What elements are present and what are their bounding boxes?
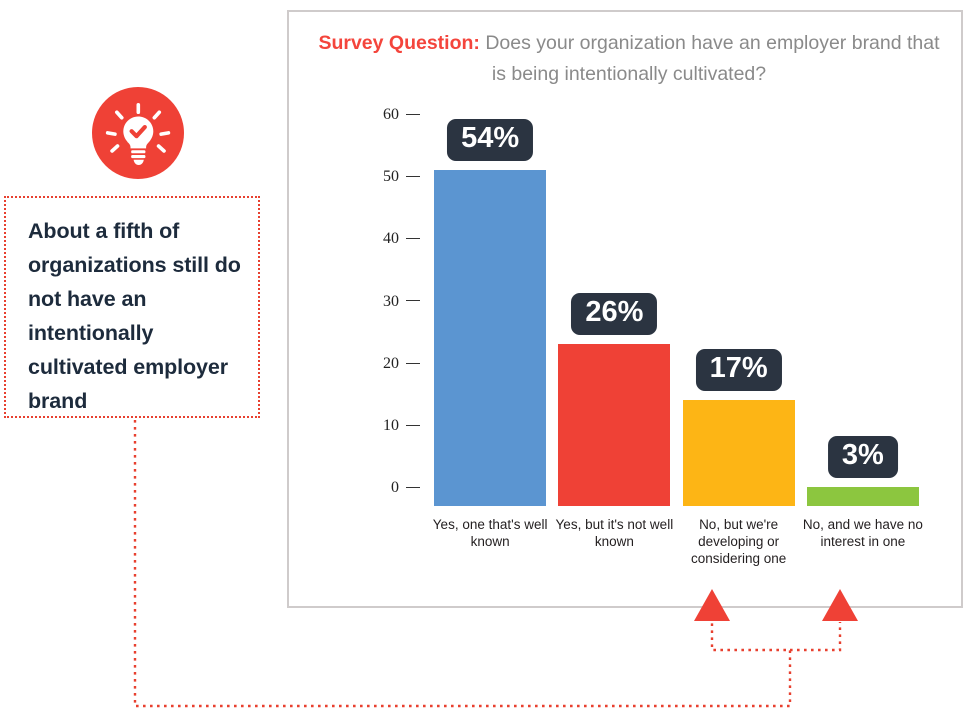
bar-1[interactable] bbox=[434, 170, 546, 506]
y-axis-tick-label: 60 bbox=[383, 106, 399, 123]
y-axis-tick-40: 40 bbox=[383, 230, 428, 248]
y-axis-tick-mark bbox=[406, 238, 420, 239]
x-axis-label-1: Yes, one that's well known bbox=[422, 516, 558, 550]
y-axis-tick-50: 50 bbox=[383, 168, 428, 186]
y-axis-tick-label: 50 bbox=[383, 168, 399, 185]
chart-title: Survey Question: Does your organization … bbox=[315, 28, 943, 90]
bar-value-label-2: 26% bbox=[571, 293, 657, 335]
bar-value-label-1: 54% bbox=[447, 119, 533, 161]
lightbulb-check-icon bbox=[92, 87, 184, 179]
y-axis-tick-label: 0 bbox=[391, 479, 399, 496]
y-axis-tick-label: 40 bbox=[383, 230, 399, 247]
bar-4[interactable] bbox=[807, 487, 919, 506]
bar-value-label-4: 3% bbox=[828, 436, 898, 478]
bar-3[interactable] bbox=[683, 400, 795, 506]
y-axis-tick-label: 30 bbox=[383, 293, 399, 310]
y-axis-tick-10: 10 bbox=[383, 417, 428, 435]
y-axis-tick-mark bbox=[406, 176, 420, 177]
y-axis-tick-mark bbox=[406, 487, 420, 488]
survey-question-label: Survey Question: bbox=[318, 32, 479, 54]
y-axis-tick-mark bbox=[406, 425, 420, 426]
chart-panel: Survey Question: Does your organization … bbox=[287, 10, 963, 608]
y-axis-tick-mark bbox=[406, 300, 420, 301]
plot-area: 0102030405060 54%Yes, one that's well kn… bbox=[428, 102, 925, 506]
y-axis-tick-label: 20 bbox=[383, 355, 399, 372]
callout-text: About a fifth of organizations still do … bbox=[28, 214, 256, 418]
x-axis-label-4: No, and we have no interest in one bbox=[795, 516, 931, 550]
bar-2[interactable] bbox=[558, 344, 670, 506]
y-axis-tick-label: 10 bbox=[383, 417, 399, 434]
x-axis-label-3: No, but we're developing or considering … bbox=[671, 516, 807, 567]
y-axis-tick-30: 30 bbox=[383, 293, 428, 311]
y-axis-tick-20: 20 bbox=[383, 355, 428, 373]
x-axis-label-2: Yes, but it's not well known bbox=[546, 516, 682, 550]
y-axis-tick-mark bbox=[406, 114, 420, 115]
y-axis-tick-0: 0 bbox=[391, 479, 428, 497]
y-axis-tick-60: 60 bbox=[383, 106, 428, 124]
survey-question-text: Does your organization have an employer … bbox=[485, 32, 939, 85]
connector-path-branch bbox=[790, 622, 840, 650]
callout-box: About a fifth of organizations still do … bbox=[4, 196, 260, 418]
y-axis-tick-mark bbox=[406, 363, 420, 364]
bar-value-label-3: 17% bbox=[696, 349, 782, 391]
